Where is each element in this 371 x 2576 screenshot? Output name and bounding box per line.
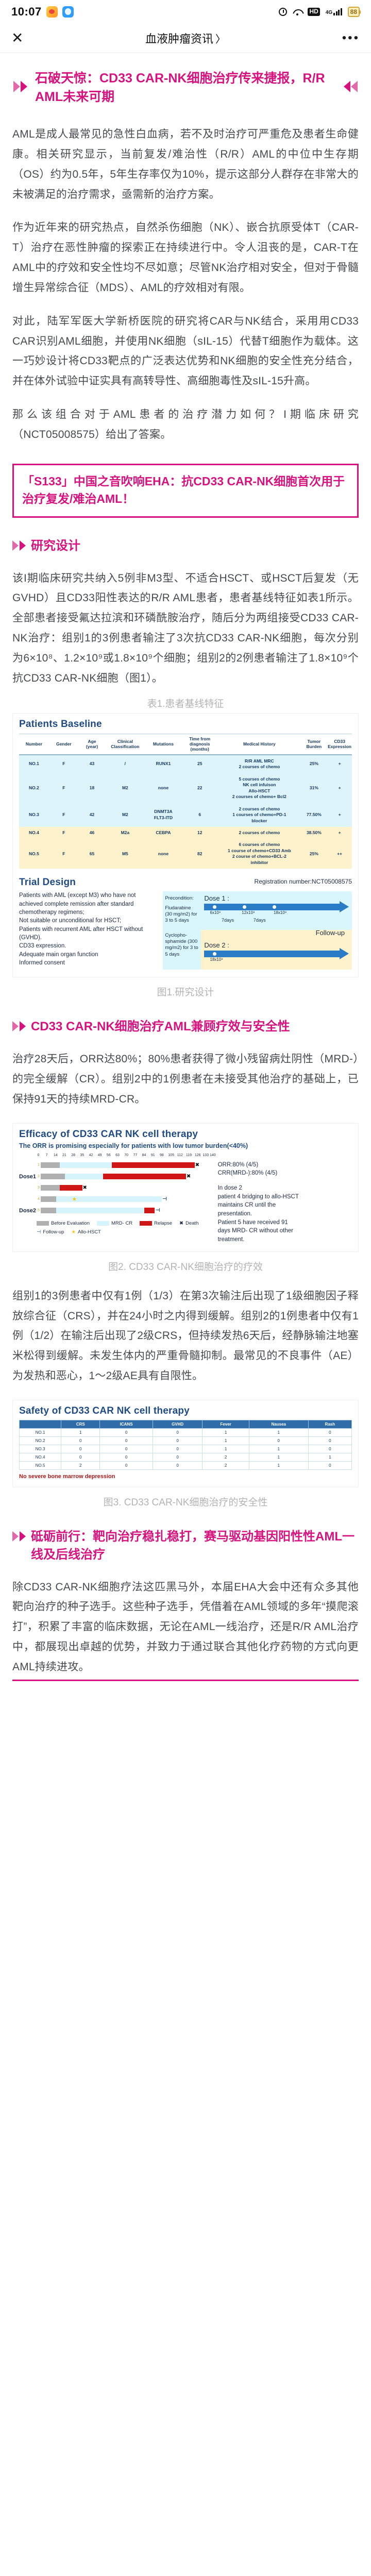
stat-crr: CRR(MRD-):80% (4/5): [218, 1169, 352, 1178]
cell: +: [327, 773, 352, 803]
legend-item: MRD- CR: [97, 1221, 132, 1226]
col-classification: ClinicalClassification: [105, 734, 145, 755]
figure-safety: Safety of CD33 CAR NK cell therapy CRS I…: [12, 1400, 359, 1487]
legend-label: Follow-up: [43, 1229, 64, 1235]
table-row: NO.1100110: [20, 1428, 352, 1436]
paragraph: 作为近年来的研究热点，自然杀伤细胞（NK）、嵌合抗原受体T（CAR-T）治疗在恶…: [12, 218, 359, 298]
cell: M2a: [105, 827, 145, 839]
table-header-row: Number Gender Age(year) ClinicalClassifi…: [19, 734, 352, 755]
cell: 22: [181, 773, 218, 803]
status-right: HD 4G 88: [279, 7, 360, 17]
col-tumor-burden: TumorBurden: [301, 734, 327, 755]
swimmer-tracks: 0714 212835 424956 637077 849198 1051121…: [19, 1154, 214, 1244]
row-index: 1: [37, 1163, 41, 1167]
slide-title: Efficacy of CD33 CAR NK cell therapy: [19, 1129, 352, 1140]
cell: 42: [79, 803, 105, 827]
account-name: 血液肿瘤资讯: [145, 32, 213, 45]
followup-marker-icon: ⊣: [37, 1229, 41, 1235]
dose2-timeline-arrow: [204, 951, 340, 957]
paragraph: 治疗28天后，ORR达80%；80%患者获得了微小残留病灶阴性（MRD-）的完全…: [12, 1049, 359, 1110]
cell: 25: [181, 755, 218, 773]
swimmer-row: 4 ⊣ ★: [19, 1194, 214, 1205]
close-icon[interactable]: ✕: [11, 31, 23, 45]
table-row: NO.2000100: [20, 1436, 352, 1445]
triangle-bullet-icon: [12, 537, 26, 551]
cell: F: [49, 755, 79, 773]
dose-value: 6x10⁸: [210, 910, 221, 915]
criteria-item: Informed consent: [19, 959, 159, 967]
col-number: Number: [19, 734, 49, 755]
paragraph: 对此，陆军军医大学新桥医院的研究将CAR与NK结合，采用用CD33 CAR识别A…: [12, 312, 359, 392]
legend-label: MRD- CR: [111, 1221, 132, 1226]
paragraph: 除CD33 CAR-NK细胞疗法这匹黑马外，本届EHA大会中还有众多其他靶向治疗…: [12, 1578, 359, 1677]
col-icans: ICANS: [100, 1420, 153, 1428]
safety-note: No severe bone marrow depression: [19, 1473, 352, 1480]
cell: 1: [61, 1428, 100, 1436]
slide-title: Patients Baseline: [19, 719, 352, 730]
figure-caption: 图3. CD33 CAR-NK细胞治疗的安全性: [12, 1495, 359, 1509]
cell: NO.3: [20, 1445, 61, 1453]
triangle-left-decor-icon: [344, 81, 358, 92]
legend-label: Before Evaluation: [51, 1221, 90, 1226]
note-line: Patient 5 have received 91: [218, 1218, 352, 1227]
legend-label: Death: [185, 1221, 198, 1226]
trial-design-title: Trial Design: [19, 877, 76, 888]
more-options-icon[interactable]: •••: [342, 35, 360, 42]
article-title-text: 石破天惊：CD33 CAR-NK细胞治疗传来捷报，R/R AML未来可期: [35, 71, 325, 104]
triangle-bullet-icon: [12, 1018, 26, 1031]
section-heading-efficacy-safety: CD33 CAR-NK细胞治疗AML兼顾疗效与安全性: [12, 1018, 359, 1036]
cell: NO.2: [20, 1436, 61, 1445]
cell: 0: [249, 1436, 308, 1445]
cell: +: [327, 803, 352, 827]
criteria-item: CD33 expression.: [19, 942, 159, 950]
article-title: 石破天惊：CD33 CAR-NK细胞治疗传来捷报，R/R AML未来可期: [12, 62, 359, 109]
cell: 25%: [301, 839, 327, 869]
col-mutations: Mutations: [145, 734, 182, 755]
criteria-item: Patients with recurrent AML after HSCT w…: [19, 925, 159, 942]
followup-marker-icon: ⊣: [162, 1197, 167, 1202]
followup-label: Follow-up: [316, 929, 345, 937]
dose1-gap-labels: 7days 7days: [204, 918, 349, 925]
cell: 0: [153, 1428, 203, 1436]
bottom-divider: [12, 1680, 359, 1681]
dose2-label: Dose2: [19, 1208, 37, 1214]
weibo-app-icon: [46, 6, 58, 18]
blue-app-icon: [62, 6, 74, 18]
cell: 0: [100, 1428, 153, 1436]
table-row: NO.4F46M2a CEBPA12 2 courses of chemo38.…: [19, 827, 352, 839]
article-body: 石破天惊：CD33 CAR-NK细胞治疗传来捷报，R/R AML未来可期 AML…: [0, 53, 371, 1702]
gap-value: 7days: [222, 918, 234, 923]
criteria-item: Patients with AML (except M3) who have n…: [19, 891, 159, 917]
treatment-schema: Precondition: Fludarabine (30 mg/m2) for…: [163, 891, 352, 970]
cell: 6 courses of chemo1 course of chemo+CD33…: [218, 839, 301, 869]
signal-bars: [333, 8, 342, 15]
col-gender: Gender: [49, 734, 79, 755]
table-row: NO.4000211: [20, 1453, 352, 1461]
cell: 0: [61, 1445, 100, 1453]
col-time-diagnosis: Time fromdiagnosis(months): [181, 734, 218, 755]
cell: 65: [79, 839, 105, 869]
status-time: 10:07: [11, 5, 42, 19]
swimmer-plot: 0714 212835 424956 637077 849198 1051121…: [19, 1154, 352, 1244]
patients-baseline-table: Number Gender Age(year) ClinicalClassifi…: [19, 734, 352, 869]
cell: +: [327, 827, 352, 839]
infusion-node: [212, 905, 217, 909]
cell: 0: [61, 1453, 100, 1461]
cell: 1: [249, 1428, 308, 1436]
legend-item: Before Evaluation: [37, 1221, 90, 1226]
section-heading-text: 研究设计: [31, 537, 80, 555]
cell: 2 courses of chemo1 courses of chemo+PD-…: [218, 803, 301, 827]
cell: 18: [79, 773, 105, 803]
legend-item: ⊣Follow-up: [37, 1229, 64, 1235]
paragraph: 该I期临床研究共纳入5例非M3型、不适合HSCT、或HSCT后复发（无GVHD）…: [12, 569, 359, 689]
row-index: 2: [37, 1175, 41, 1178]
cell: NO.3: [19, 803, 49, 827]
dose1-label: Dose 1 :: [204, 894, 349, 902]
figure-caption: 图1.研究设计: [12, 985, 359, 998]
figure-efficacy: Efficacy of CD33 CAR NK cell therapy The…: [12, 1123, 359, 1252]
cell: +: [327, 755, 352, 773]
col-nausea: Nausea: [249, 1420, 308, 1428]
status-bar: 10:07 HD 4G 88: [0, 0, 371, 24]
legend-label: Relapse: [154, 1221, 172, 1226]
x-marker-icon: ✖: [179, 1221, 183, 1226]
table-row: NO.5F65M5 none82 6 courses of chemo1 cou…: [19, 839, 352, 869]
precondition-drug: Cyclopho-sphamide (300 mg/m2) for 3 to 5…: [165, 933, 199, 958]
followup-marker-icon: ⊣: [155, 1208, 160, 1213]
cell: 6: [181, 803, 218, 827]
cell: R/R AML MRC2 courses of chemo: [218, 755, 301, 773]
table-row: NO.3000110: [20, 1445, 352, 1453]
cell: NO.1: [20, 1428, 61, 1436]
infusion-node: [272, 905, 277, 909]
trial-design-body: Patients with AML (except M3) who have n…: [19, 891, 352, 970]
cell: F: [49, 839, 79, 869]
cell: NO.5: [19, 839, 49, 869]
cell: 82: [181, 839, 218, 869]
cell: 38.50%: [301, 827, 327, 839]
cell: DNMT3AFLT3-ITD: [145, 803, 182, 827]
cell: 5 courses of chemoNK cell infuisonAllo-H…: [218, 773, 301, 803]
gap-value: 7days: [254, 918, 266, 923]
table-row: NO.5200210: [20, 1461, 352, 1469]
infusion-node: [242, 905, 247, 909]
alarm-icon: [279, 8, 287, 16]
status-left: 10:07: [11, 5, 74, 19]
col-cd33: CD33Expression: [327, 734, 352, 755]
track: ⊣ ★: [41, 1196, 214, 1202]
cell: 2 courses of chemo: [218, 827, 301, 839]
cell: 1: [203, 1445, 249, 1453]
dose-value: 12x10⁸: [242, 910, 255, 915]
col-age: Age(year): [79, 734, 105, 755]
cell: NO.2: [19, 773, 49, 803]
cell: 0: [100, 1461, 153, 1469]
dose2-band: Follow-up Dose 2 : 18x10⁸: [201, 930, 352, 970]
triangle-right-decor-icon: [13, 81, 27, 92]
cell: NO.4: [19, 827, 49, 839]
death-marker-icon: ✖: [187, 1174, 191, 1179]
precondition-column: Precondition: Fludarabine (30 mg/m2) for…: [163, 891, 201, 970]
swimmer-row: Dose1 2 ✖: [19, 1171, 214, 1182]
cell: 0: [308, 1445, 351, 1453]
cell: 0: [100, 1445, 153, 1453]
cell: 1: [249, 1461, 308, 1469]
chart-legend: Before Evaluation MRD- CR Relapse ✖Death…: [37, 1221, 214, 1235]
precondition-drug: Fludarabine (30 mg/m2) for 3 to 5 days: [165, 905, 199, 924]
section-heading-outlook: 砥砺前行：靶向治疗稳扎稳打，赛马驱动基因阳性性AML一线及后线治疗: [12, 1528, 359, 1564]
cell: 0: [100, 1436, 153, 1445]
nav-bar: ✕ 血液肿瘤资讯〉 •••: [0, 24, 371, 53]
cell: 46: [79, 827, 105, 839]
swimmer-row: Dose2 5 ⊣: [19, 1205, 214, 1216]
precondition-label: Precondition:: [165, 895, 199, 902]
legend-item: ✖Death: [179, 1221, 198, 1226]
criteria-item: Adequate main organ function: [19, 951, 159, 959]
paragraph: 那么该组合对于AML患者的治疗潜力如何？I期临床研究（NCT05008575）给…: [12, 405, 359, 445]
infusion-node: [212, 952, 217, 956]
cell: ++: [327, 839, 352, 869]
star-icon: ★: [71, 1229, 76, 1235]
track: ⊣: [41, 1208, 214, 1213]
col-gvhd: GVHD: [153, 1420, 203, 1428]
track: ✖: [41, 1174, 214, 1179]
table-row: NO.1F43/ RUNX125 R/R AML MRC2 courses of…: [19, 755, 352, 773]
dose1-label: Dose1: [19, 1174, 37, 1180]
dose2-dose-labels: 18x10⁸: [204, 957, 349, 964]
cell: NO.4: [20, 1453, 61, 1461]
chevron-right-icon: 〉: [215, 34, 226, 45]
x-axis-ticks: 0714 212835 424956 637077 849198 1051121…: [37, 1154, 214, 1160]
dose-value: 18x10⁸: [210, 957, 223, 962]
allo-hsct-star-icon: ★: [72, 1196, 77, 1202]
criteria-item: Not suitable or unconditional for HSCT;: [19, 917, 159, 925]
hd-icon: HD: [308, 8, 319, 15]
cell: 1: [249, 1445, 308, 1453]
note-line: treatment.: [218, 1235, 352, 1244]
cell: F: [49, 827, 79, 839]
cell: 2: [203, 1453, 249, 1461]
stat-orr: ORR:80% (4/5): [218, 1161, 352, 1170]
col-blank: [20, 1420, 61, 1428]
note-line: days MRD- CR without other: [218, 1227, 352, 1235]
cell: /: [105, 755, 145, 773]
section-heading-text: CD33 CAR-NK细胞治疗AML兼顾疗效与安全性: [31, 1018, 290, 1036]
cell: 2: [61, 1461, 100, 1469]
table-row: NO.2F18M2 none22 5 courses of chemoNK ce…: [19, 773, 352, 803]
col-fever: Fever: [203, 1420, 249, 1428]
paragraph: 组别1的3例患者中仅有1例（1/3）在第3次输注后出现了1级细胞因子释放综合征（…: [12, 1286, 359, 1386]
legend-item: Relapse: [140, 1221, 172, 1226]
safety-table: CRS ICANS GVHD Fever Nausea Rash NO.1100…: [19, 1420, 352, 1470]
signal-icon: 4G: [326, 8, 342, 15]
dose-value: 18x10⁸: [274, 910, 286, 915]
note-line: In dose 2: [218, 1184, 352, 1193]
cell: F: [49, 773, 79, 803]
track: ✖: [41, 1185, 214, 1191]
cell: 0: [153, 1445, 203, 1453]
cell: 1: [249, 1453, 308, 1461]
col-crs: CRS: [61, 1420, 100, 1428]
registration-number: Registration number:NCT05008575: [76, 878, 352, 885]
col-medical-history: Medical History: [218, 734, 301, 755]
table-header-row: CRS ICANS GVHD Fever Nausea Rash: [20, 1420, 352, 1428]
page-title[interactable]: 血液肿瘤资讯〉: [0, 30, 371, 46]
cell: RUNX1: [145, 755, 182, 773]
death-marker-icon: ✖: [83, 1185, 87, 1191]
highlight-callout: 「S133」中国之音吹响EHA：抗CD33 CAR-NK细胞首次用于治疗复发/难…: [12, 464, 359, 518]
efficacy-stats: ORR:80% (4/5) CRR(MRD-):80% (4/5) In dos…: [218, 1154, 352, 1244]
cell: NO.5: [20, 1461, 61, 1469]
cell: 0: [153, 1453, 203, 1461]
slide-subtitle: The ORR is promising especially for pati…: [19, 1142, 352, 1149]
cell: 1: [308, 1453, 351, 1461]
cell: 2: [203, 1461, 249, 1469]
cell: 0: [153, 1436, 203, 1445]
cell: NO.1: [19, 755, 49, 773]
table-caption: 表1.患者基线特征: [12, 696, 359, 710]
cell: 0: [308, 1436, 351, 1445]
dose1-band: Dose 1 : 6x10⁸ 12x10⁸ 18x10⁸ 7days: [201, 891, 352, 930]
track: ✖: [41, 1162, 214, 1168]
cell: none: [145, 773, 182, 803]
cell: M2: [105, 773, 145, 803]
cell: M5: [105, 839, 145, 869]
cell: F: [49, 803, 79, 827]
row-index: 4: [37, 1197, 41, 1201]
dose-column: Dose 1 : 6x10⁸ 12x10⁸ 18x10⁸ 7days: [201, 891, 352, 970]
eligibility-criteria: Patients with AML (except M3) who have n…: [19, 891, 159, 970]
paragraph: AML是成人最常见的急性白血病，若不及时治疗可严重危及患者生命健康。相关研究显示…: [12, 125, 359, 205]
note-line: patient 4 bridging to allo-HSCT: [218, 1193, 352, 1201]
network-label: 4G: [326, 10, 332, 15]
cell: 12: [181, 827, 218, 839]
row-index: 3: [37, 1186, 41, 1190]
cell: 77.50%: [301, 803, 327, 827]
cell: 1: [203, 1428, 249, 1436]
section-heading-text: 砥砺前行：靶向治疗稳扎稳打，赛马驱动基因阳性性AML一线及后线治疗: [31, 1528, 359, 1564]
cell: 25%: [301, 755, 327, 773]
note-line: presentation.: [218, 1210, 352, 1218]
wifi-icon: [293, 8, 302, 15]
figure-patients-baseline: Patients Baseline Number Gender Age(year…: [12, 713, 359, 978]
swimmer-row: 1 ✖: [19, 1160, 214, 1171]
row-index: 5: [37, 1209, 41, 1212]
section-heading-study-design: 研究设计: [12, 537, 359, 555]
cell: M2: [105, 803, 145, 827]
note-line: maintains CR until the: [218, 1201, 352, 1210]
cell: 0: [153, 1461, 203, 1469]
slide-title: Safety of CD33 CAR NK cell therapy: [19, 1405, 352, 1417]
cell: 0: [308, 1428, 351, 1436]
swimmer-row: 3 ✖: [19, 1182, 214, 1194]
triangle-bullet-icon: [12, 1528, 26, 1541]
legend-item: ★Allo-HSCT: [71, 1229, 100, 1235]
cell: CEBPA: [145, 827, 182, 839]
death-marker-icon: ✖: [195, 1163, 199, 1168]
cell: 0: [61, 1436, 100, 1445]
dose2-label: Dose 2 :: [204, 941, 349, 949]
cell: 0: [100, 1453, 153, 1461]
cell: 43: [79, 755, 105, 773]
figure-caption: 图2. CD33 CAR-NK细胞治疗的疗效: [12, 1259, 359, 1273]
battery-icon: 88: [348, 7, 360, 17]
cell: 31%: [301, 773, 327, 803]
cell: 0: [308, 1461, 351, 1469]
legend-label: Allo-HSCT: [78, 1229, 101, 1235]
dose1-timeline-arrow: [204, 904, 340, 910]
cell: none: [145, 839, 182, 869]
cell: 1: [203, 1436, 249, 1445]
dose1-dose-labels: 6x10⁸ 12x10⁸ 18x10⁸: [204, 910, 349, 918]
table-row: NO.3F42M2 DNMT3AFLT3-ITD6 2 courses of c…: [19, 803, 352, 827]
col-rash: Rash: [308, 1420, 351, 1428]
